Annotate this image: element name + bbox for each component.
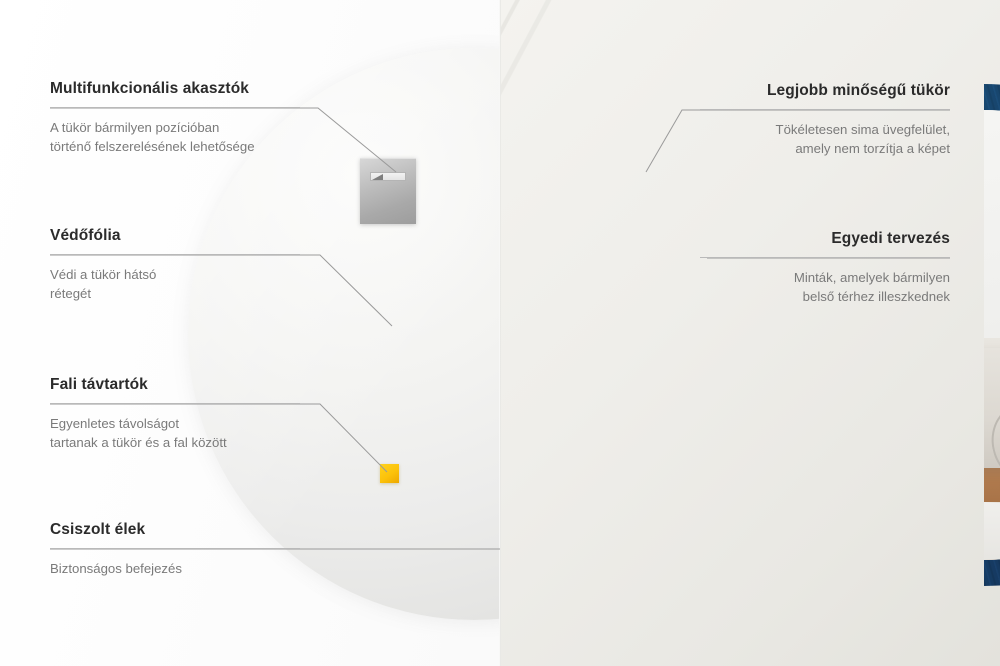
callout-wall-spacers: Fali távtartók Egyenletes távolságot tar… [50, 376, 300, 452]
mirror-glass [984, 110, 1000, 560]
callout-rule [50, 548, 300, 549]
callout-polished-edges: Csiszolt élek Biztonságos befejezés [50, 521, 300, 579]
callout-rule [700, 109, 950, 110]
reflection-rug [984, 502, 1000, 561]
callout-description: Minták, amelyek bármilyen belső térhez i… [700, 269, 950, 306]
callout-description: Egyenletes távolságot tartanak a tükör é… [50, 415, 300, 452]
callout-description: Tökéletesen sima üvegfelület, amely nem … [700, 121, 950, 158]
callout-description: A tükör bármilyen pozícióban történő fel… [50, 119, 300, 156]
callout-rule [50, 254, 300, 255]
callout-unique-design: Egyedi tervezés Minták, amelyek bármilye… [700, 230, 950, 306]
spacer-block [380, 464, 399, 483]
callout-title: Egyedi tervezés [700, 230, 950, 248]
callout-title: Csiszolt élek [50, 521, 300, 539]
callout-protective-film: Védőfólia Védi a tükör hátsó rétegét [50, 227, 300, 303]
callout-title: Multifunkcionális akasztók [50, 80, 300, 98]
panel-divider [499, 0, 501, 666]
callout-rule [50, 107, 300, 108]
callout-title: Védőfólia [50, 227, 300, 245]
callout-multifunctional-hangers: Multifunkcionális akasztók A tükör bármi… [50, 80, 300, 156]
callout-title: Legjobb minőségű tükör [700, 82, 950, 100]
callout-rule [700, 257, 950, 258]
infographic-canvas: Multifunkcionális akasztók A tükör bármi… [0, 0, 1000, 666]
callout-description: Védi a tükör hátsó rétegét [50, 266, 300, 303]
mirror-front [984, 84, 1000, 586]
hanger-plate [360, 158, 416, 224]
callout-best-quality-mirror: Legjobb minőségű tükör Tökéletesen sima … [700, 82, 950, 158]
callout-title: Fali távtartók [50, 376, 300, 394]
callout-description: Biztonságos befejezés [50, 560, 300, 579]
hanger-slot-icon [370, 172, 406, 181]
callout-rule [50, 403, 300, 404]
